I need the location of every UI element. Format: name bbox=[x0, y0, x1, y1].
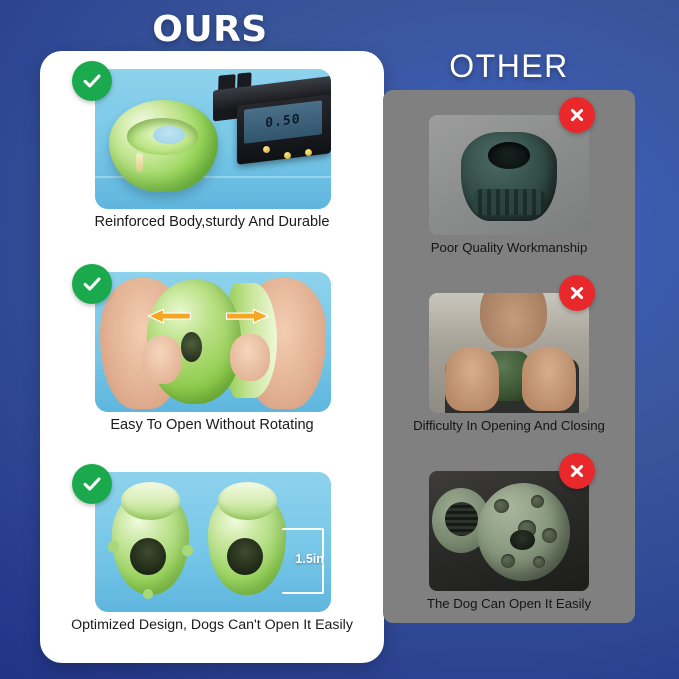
toy-measured-with-digital-caliper-photo: 0.50 bbox=[95, 69, 331, 209]
ours-feature-caption: Easy To Open Without Rotating bbox=[40, 417, 384, 433]
other-drawback-caption: The Dog Can Open It Easily bbox=[383, 596, 635, 611]
toy-opening bbox=[227, 538, 263, 575]
toy-dimple bbox=[533, 556, 545, 568]
other-panel: Poor Quality Workmanship Difficulty In O… bbox=[383, 90, 635, 623]
person-struggling-to-open-toy-photo bbox=[429, 293, 589, 413]
sage-green-ball-opened-photo bbox=[429, 471, 589, 591]
toy-ridges bbox=[473, 189, 546, 216]
toy-dimple bbox=[542, 528, 557, 543]
toy-nub bbox=[108, 541, 118, 551]
caliper-knob bbox=[284, 152, 291, 159]
other-column-title: OTHER bbox=[383, 48, 635, 85]
caliper-knob bbox=[263, 146, 270, 153]
toy-dimple bbox=[494, 499, 510, 514]
dimension-label: 1.5in bbox=[281, 531, 323, 587]
toy-dimple bbox=[501, 554, 515, 568]
thumb-left bbox=[142, 336, 182, 384]
ours-feature-caption: Reinforced Body,sturdy And Durable bbox=[40, 214, 384, 230]
thumb-right bbox=[230, 334, 270, 382]
other-drawback-caption: Poor Quality Workmanship bbox=[383, 240, 635, 255]
caliper-knob bbox=[305, 149, 312, 156]
toy-cap-grooves bbox=[445, 502, 478, 536]
arrow-right-icon bbox=[225, 307, 270, 325]
hands-pulling-toy-open-photo bbox=[95, 272, 331, 412]
toy-opening bbox=[181, 332, 202, 362]
two-toy-views-with-dimension-photo: 1.5in bbox=[95, 472, 331, 612]
toy-nub bbox=[143, 589, 153, 599]
comparison-infographic: OURS OTHER 0.50 bbox=[0, 0, 679, 679]
green-dog-toy bbox=[109, 100, 218, 192]
toy-lid bbox=[121, 482, 180, 519]
toy-slot bbox=[136, 153, 143, 171]
ours-panel: 0.50 Reinforced Body,sturdy And Durable bbox=[40, 51, 384, 663]
ours-feature-caption: Optimized Design, Dogs Can't Open It Eas… bbox=[40, 617, 384, 633]
right-hand bbox=[522, 348, 576, 410]
check-icon bbox=[72, 464, 112, 504]
toy-opening bbox=[510, 530, 534, 550]
left-hand bbox=[445, 348, 499, 410]
rough-dark-teal-toy-photo bbox=[429, 115, 589, 235]
toy-opening bbox=[488, 142, 530, 169]
check-icon bbox=[72, 264, 112, 304]
ours-column-title: OURS bbox=[0, 9, 420, 50]
arrow-left-icon bbox=[147, 307, 192, 325]
toy-opening bbox=[130, 538, 166, 575]
cross-icon bbox=[559, 97, 595, 133]
other-drawback-caption: Difficulty In Opening And Closing bbox=[383, 418, 635, 433]
toy-opening bbox=[153, 126, 186, 144]
competitor-toy bbox=[477, 483, 570, 581]
check-icon bbox=[72, 61, 112, 101]
toy-lid bbox=[218, 482, 277, 519]
toy-nub bbox=[182, 545, 192, 555]
cross-icon bbox=[559, 453, 595, 489]
competitor-toy bbox=[461, 132, 557, 221]
toy-dimple bbox=[531, 495, 544, 508]
cross-icon bbox=[559, 275, 595, 311]
